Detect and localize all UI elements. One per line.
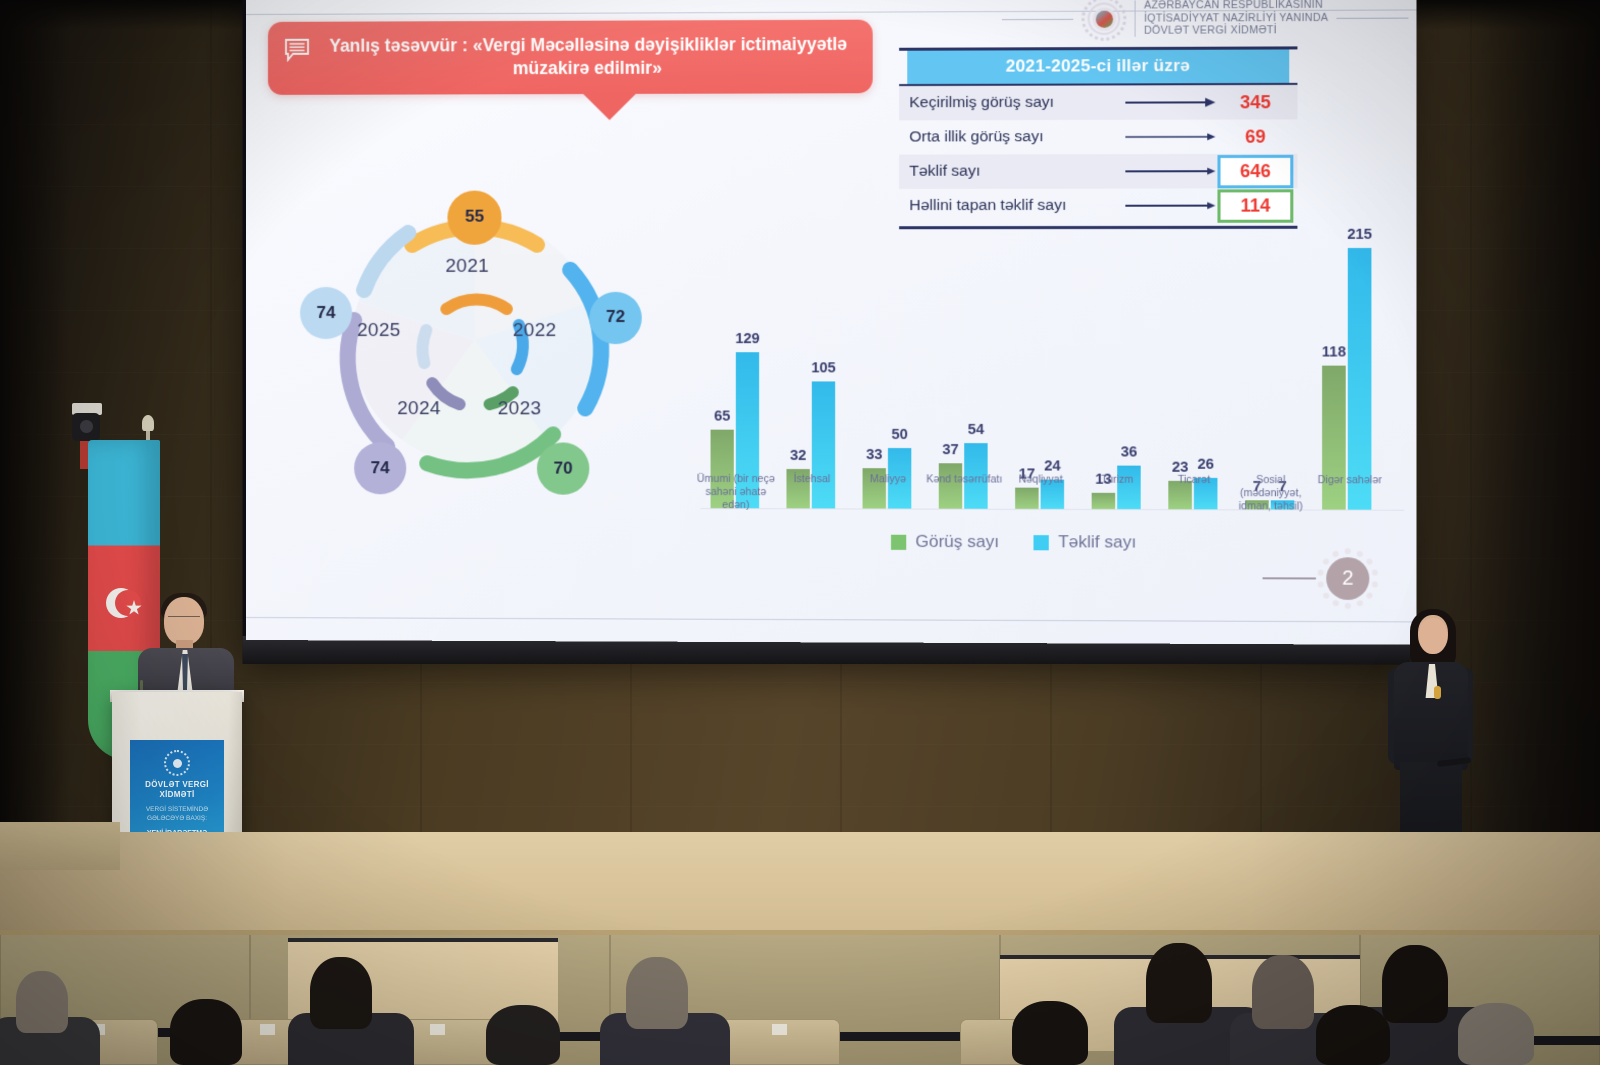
legend-item-teklif-sayi: Təklif sayı	[1034, 532, 1137, 552]
donut-value-2025: 74	[303, 303, 349, 323]
sector-bar-chart: 65 129 32 105 33 50 37 54 17 24	[700, 206, 1404, 510]
bar-category-label: Ticarət	[1150, 474, 1238, 487]
bar-value: 37	[942, 442, 958, 458]
podium-sign-subtitle: VERGİ SİSTEMİNDƏ GƏLƏCƏYƏ BAXIŞ:	[135, 806, 219, 823]
table-row-label: Təklif sayı	[909, 162, 1123, 181]
flag-crescent-icon	[106, 588, 136, 618]
legend-item-gorus-sayi: Görüş sayı	[891, 532, 999, 552]
bar-group: 118 215	[1322, 248, 1371, 510]
table-row: Keçirilmiş görüş sayı 345	[899, 85, 1297, 120]
yearly-meetings-donut-chart: 55 72 70 74 74 2021 2022 2023 2024 2025	[284, 169, 666, 511]
bar-teklif-sayi: 215	[1348, 248, 1372, 510]
table-row-label: Keçirilmiş görüş sayı	[909, 94, 1123, 113]
legend-swatch-cyan	[1034, 535, 1049, 550]
legend-label: Təklif sayı	[1058, 532, 1136, 552]
bar-value: 129	[735, 331, 760, 347]
flag-pole-finial	[142, 415, 154, 431]
bar-value: 105	[811, 360, 836, 376]
header-rule-right	[1336, 17, 1408, 18]
bar-gorus-sayi: 118	[1322, 366, 1346, 510]
emblem-inner-ring	[1088, 3, 1121, 35]
audience-member-head	[1146, 943, 1212, 1023]
bar-category-label: Ümumi (bir neçə sahəni əhatə edən)	[692, 473, 779, 512]
state-tax-service-emblem-icon	[1082, 0, 1127, 41]
bar-value: 26	[1197, 457, 1214, 473]
bar-value: 65	[714, 409, 730, 425]
legend-swatch-green	[891, 534, 906, 549]
bar-value: 50	[891, 427, 907, 443]
audience-member-head	[1316, 1005, 1390, 1065]
table-row-value: 69	[1217, 126, 1293, 147]
bar-group: 13 36	[1092, 466, 1141, 510]
wall-left-shadow	[0, 0, 70, 935]
page-badge-rule	[1263, 577, 1316, 579]
podium-emblem-icon	[164, 750, 190, 776]
audience-member-head	[1458, 1003, 1534, 1065]
bar-value: 215	[1347, 227, 1372, 243]
donut-year-2024: 2024	[397, 398, 441, 420]
donut-year-2021: 2021	[445, 256, 489, 278]
bar-category-label: Turizm	[1073, 474, 1161, 487]
donut-value-2022: 72	[592, 307, 638, 327]
table-title: 2021-2025-ci illər üzrə	[907, 49, 1289, 84]
bar-category-label: Sosial (mədəniyyət, idman, təhsil)	[1227, 474, 1315, 514]
speaker-glasses-icon	[168, 616, 200, 623]
presentation-slide: AZƏRBAYCAN RESPUBLİKASININ İQTİSADİYYAT …	[246, 0, 1417, 645]
table-row-value-highlighted: 646	[1217, 154, 1293, 188]
arrow-icon	[1123, 96, 1217, 108]
slide-header-logo: AZƏRBAYCAN RESPUBLİKASININ İQTİSADİYYAT …	[1002, 0, 1408, 41]
donut-value-2023: 70	[540, 459, 586, 479]
chair-seat-tag	[430, 1024, 445, 1035]
standing-woman-face	[1419, 618, 1447, 654]
stage-left-ledge	[0, 822, 120, 870]
bar-category-label: Maliyyə	[844, 473, 931, 486]
arrow-icon	[1123, 165, 1217, 177]
page-badge-ornament-icon	[1317, 548, 1379, 609]
bar-value: 118	[1322, 344, 1346, 360]
audience-area	[0, 930, 1600, 1065]
bar-value: 36	[1121, 444, 1137, 460]
misconception-banner: Yanlış təsəvvür : «Vergi Məcəlləsinə dəy…	[268, 20, 873, 121]
bar-value: 54	[968, 422, 984, 438]
bar-category-label: Digər sahələr	[1306, 474, 1394, 487]
audience-member-head	[486, 1005, 560, 1065]
conference-hall-scene: AZƏRBAYCAN RESPUBLİKASININ İQTİSADİYYAT …	[0, 0, 1600, 1065]
bar-value: 24	[1044, 458, 1060, 474]
audience-member-head	[1252, 955, 1314, 1029]
table-row: Orta illik görüş sayı 69	[899, 119, 1297, 154]
podium-sign-org: DÖVLƏT VERGİ XİDMƏTİ	[135, 780, 219, 799]
table-row: Təklif sayı 646	[899, 154, 1297, 189]
donut-value-2021: 55	[451, 207, 497, 227]
slide-bottom-rule	[246, 617, 1417, 622]
bar-category-label: Nəqliyyat	[997, 473, 1085, 486]
bar-gorus-sayi: 13	[1092, 493, 1115, 509]
header-org-line1: AZƏRBAYCAN RESPUBLİKASININ	[1144, 0, 1328, 12]
audience-member-head	[626, 957, 688, 1029]
bar-gorus-sayi: 17	[1015, 488, 1038, 509]
bar-teklif-sayi: 105	[812, 381, 835, 508]
donut-year-2025: 2025	[357, 320, 401, 342]
table-row-label: Orta illik görüş sayı	[909, 128, 1123, 147]
bar-category-label: Kənd təsərrüfatı	[920, 473, 1008, 486]
audience-member-head	[170, 999, 242, 1065]
misconception-banner-body: Yanlış təsəvvür : «Vergi Məcəlləsinə dəy…	[268, 20, 873, 95]
slide-page-badge: 2	[1263, 557, 1370, 600]
security-camera-lens	[80, 420, 93, 433]
wall-right-shadow	[1470, 0, 1600, 935]
page-number-circle: 2	[1326, 557, 1369, 600]
audience-member-head	[310, 957, 372, 1029]
donut-value-2024: 74	[357, 458, 403, 478]
header-org-text: AZƏRBAYCAN RESPUBLİKASININ İQTİSADİYYAT …	[1144, 0, 1328, 38]
header-divider	[1135, 0, 1136, 36]
speech-bubble-icon	[284, 38, 310, 62]
header-org-line2: İQTİSADİYYAT NAZİRLİYİ YANINDA	[1144, 12, 1328, 25]
misconception-banner-text: Yanlış təsəvvür : «Vergi Məcəlləsinə dəy…	[322, 33, 854, 81]
chair-seat-tag	[260, 1024, 275, 1035]
bar-category-label: İstehsal	[768, 473, 855, 486]
audience-member-head	[16, 971, 68, 1033]
inner-arc-2025	[423, 330, 427, 363]
donut-year-2022: 2022	[513, 320, 557, 342]
legend-label: Görüş sayı	[915, 532, 999, 552]
audience-member-head	[1012, 1001, 1088, 1065]
bar-value: 32	[790, 448, 806, 464]
audience-member-head	[1382, 945, 1448, 1023]
header-org-line3: DÖVLƏT VERGİ XİDMƏTİ	[1144, 24, 1328, 37]
banner-tail	[583, 94, 635, 120]
chair-seat-tag	[772, 1024, 787, 1035]
standing-woman-lapel-pin-icon	[1434, 686, 1441, 699]
summary-stat-table: 2021-2025-ci illər üzrə Keçirilmiş görüş…	[899, 46, 1297, 229]
header-rule-left	[1002, 18, 1073, 19]
bar-group: 32 105	[786, 381, 835, 508]
table-row-value: 345	[1217, 92, 1293, 113]
bar-chart-legend: Görüş sayı Təklif sayı	[891, 532, 1136, 553]
bar-value: 33	[866, 447, 882, 463]
arrow-icon	[1123, 131, 1217, 143]
donut-year-2023: 2023	[498, 398, 542, 420]
bar-chart-plot-area: 65 129 32 105 33 50 37 54 17 24	[700, 249, 1404, 511]
bar-teklif-sayi: 36	[1117, 466, 1141, 510]
